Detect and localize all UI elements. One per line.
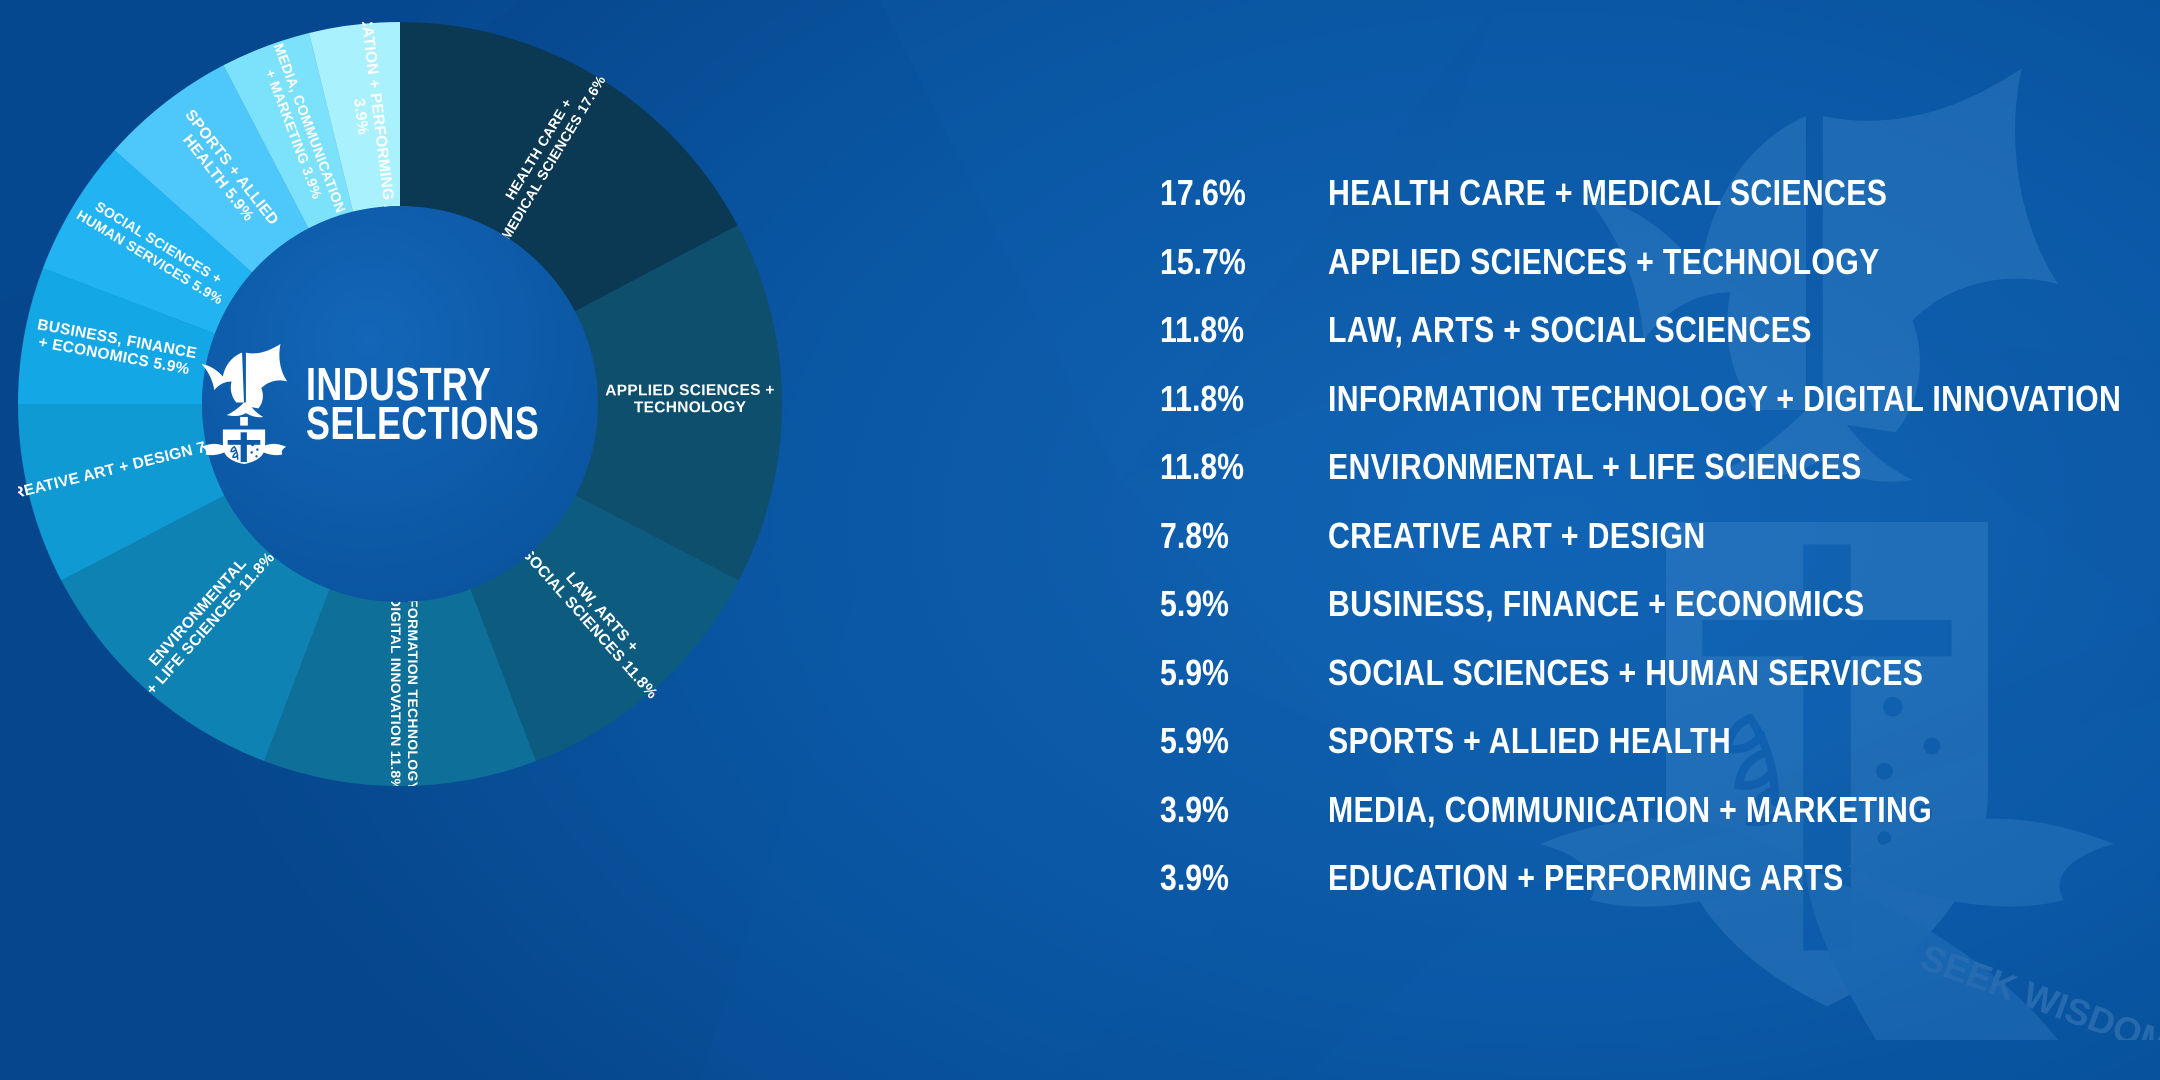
legend-row[interactable]: 15.7%APPLIED SCIENCES + TECHNOLOGY <box>1160 241 2120 310</box>
legend-label: HEALTH CARE + MEDICAL SCIENCES <box>1328 172 1887 214</box>
legend-label: BUSINESS, FINANCE + ECONOMICS <box>1328 583 1864 625</box>
legend-percent: 5.9% <box>1160 720 1301 762</box>
legend-label: LAW, ARTS + SOCIAL SCIENCES <box>1328 309 1812 351</box>
legend-percent: 3.9% <box>1160 789 1301 831</box>
legend-label: ENVIRONMENTAL + LIFE SCIENCES <box>1328 446 1862 488</box>
legend-row[interactable]: 5.9%SOCIAL SCIENCES + HUMAN SERVICES <box>1160 652 2120 721</box>
legend-percent: 15.7% <box>1160 241 1301 283</box>
legend-row[interactable]: 11.8%ENVIRONMENTAL + LIFE SCIENCES <box>1160 446 2120 515</box>
wordmark-line-2: SELECTIONS <box>306 404 539 443</box>
legend-percent: 5.9% <box>1160 583 1301 625</box>
legend-list: 17.6%HEALTH CARE + MEDICAL SCIENCES15.7%… <box>1160 172 2120 926</box>
eagle-crest-icon <box>196 344 292 464</box>
legend-row[interactable]: 11.8%INFORMATION TECHNOLOGY + DIGITAL IN… <box>1160 378 2120 447</box>
legend-label: APPLIED SCIENCES + TECHNOLOGY <box>1328 241 1880 283</box>
legend-row[interactable]: 17.6%HEALTH CARE + MEDICAL SCIENCES <box>1160 172 2120 241</box>
legend-label: SOCIAL SCIENCES + HUMAN SERVICES <box>1328 652 1923 694</box>
legend-percent: 5.9% <box>1160 652 1301 694</box>
legend-label: MEDIA, COMMUNICATION + MARKETING <box>1328 789 1932 831</box>
slice-label: INFORMATION TECHNOLOGY +DIGITAL INNOVATI… <box>388 584 421 786</box>
legend-row[interactable]: 3.9%MEDIA, COMMUNICATION + MARKETING <box>1160 789 2120 858</box>
legend-label: INFORMATION TECHNOLOGY + DIGITAL INNOVAT… <box>1328 378 2121 420</box>
legend-percent: 11.8% <box>1160 446 1301 488</box>
legend-percent: 3.9% <box>1160 857 1301 899</box>
donut-chart: HEALTH CARE +MEDICAL SCIENCES 17.6%APPLI… <box>0 0 820 1080</box>
legend-percent: 11.8% <box>1160 378 1301 420</box>
logo-wordmark: INDUSTRY SELECTIONS <box>306 365 605 442</box>
legend-percent: 17.6% <box>1160 172 1301 214</box>
legend-label: EDUCATION + PERFORMING ARTS <box>1328 857 1844 899</box>
industry-selections-logo: INDUSTRY SELECTIONS <box>202 206 598 602</box>
legend-row[interactable]: 5.9%SPORTS + ALLIED HEALTH <box>1160 720 2120 789</box>
legend-row[interactable]: 11.8%LAW, ARTS + SOCIAL SCIENCES <box>1160 309 2120 378</box>
legend-row[interactable]: 3.9%EDUCATION + PERFORMING ARTS <box>1160 857 2120 926</box>
legend-row[interactable]: 5.9%BUSINESS, FINANCE + ECONOMICS <box>1160 583 2120 652</box>
legend-percent: 7.8% <box>1160 515 1301 557</box>
legend-label: CREATIVE ART + DESIGN <box>1328 515 1706 557</box>
legend-row[interactable]: 7.8%CREATIVE ART + DESIGN <box>1160 515 2120 584</box>
legend-percent: 11.8% <box>1160 309 1301 351</box>
legend-label: SPORTS + ALLIED HEALTH <box>1328 720 1731 762</box>
